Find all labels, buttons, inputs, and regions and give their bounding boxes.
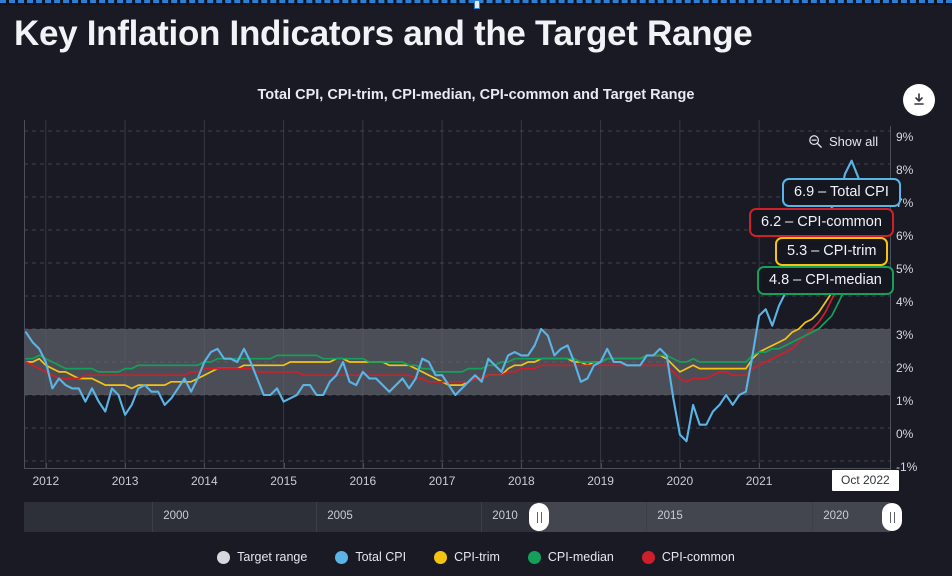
legend-color-swatch [335, 551, 348, 564]
navigator-right-handle[interactable] [882, 503, 902, 531]
series-line-total-cpi[interactable] [26, 161, 878, 442]
x-axis-line [24, 468, 890, 469]
download-button[interactable] [903, 84, 935, 116]
legend-item-cpi-trim[interactable]: CPI-trim [434, 550, 500, 564]
annotation-total-cpi[interactable]: 6.9 – Total CPI [782, 178, 901, 207]
legend-color-swatch [434, 551, 447, 564]
legend-color-swatch [642, 551, 655, 564]
x-tick-label: 2014 [191, 474, 218, 488]
x-axis: Oct 2022 2012201320142015201620172018201… [0, 468, 952, 496]
x-tick-label: 2015 [270, 474, 297, 488]
legend: Target rangeTotal CPICPI-trimCPI-medianC… [0, 542, 952, 572]
legend-color-swatch [217, 551, 230, 564]
show-all-label: Show all [829, 134, 878, 149]
y-tick-label: 1% [896, 394, 913, 408]
navigator-tick-label: 2005 [327, 510, 353, 522]
annotation-cpi-common[interactable]: 6.2 – CPI-common [749, 208, 894, 237]
x-tick-label: 2012 [32, 474, 59, 488]
chart-subtitle: Total CPI, CPI-trim, CPI-median, CPI-com… [0, 87, 952, 103]
handle-grip-icon [890, 512, 895, 523]
legend-item-target-range[interactable]: Target range [217, 550, 307, 564]
navigator-tick-label: 2015 [657, 510, 683, 522]
navigator-tick-label: 2000 [163, 510, 189, 522]
legend-label: CPI-median [548, 550, 614, 564]
selection-handle[interactable] [474, 0, 480, 9]
legend-label: CPI-common [662, 550, 735, 564]
y-tick-label: 8% [896, 163, 913, 177]
annotation-cpi-median[interactable]: 4.8 – CPI-median [757, 266, 894, 295]
navigator-tick-label: 2010 [492, 510, 518, 522]
show-all-button[interactable]: Show all [808, 134, 878, 149]
y-tick-label: 3% [896, 328, 913, 342]
navigator-left-handle[interactable] [529, 503, 549, 531]
navigator-divider [812, 502, 813, 532]
x-tick-mark [284, 463, 285, 468]
x-tick-mark [759, 463, 760, 468]
annotation-cpi-trim[interactable]: 5.3 – CPI-trim [775, 237, 888, 266]
x-tick-mark [521, 463, 522, 468]
legend-item-cpi-median[interactable]: CPI-median [528, 550, 614, 564]
legend-label: Total CPI [355, 550, 406, 564]
x-tick-label: 2016 [349, 474, 376, 488]
navigator-divider [152, 502, 153, 532]
x-tick-mark [204, 463, 205, 468]
x-tick-label: 2013 [112, 474, 139, 488]
legend-label: CPI-trim [454, 550, 500, 564]
navigator[interactable]: 20002005201020152020 [24, 502, 890, 532]
x-tick-label: 2019 [587, 474, 614, 488]
download-icon [911, 92, 927, 108]
x-tick-mark [680, 463, 681, 468]
legend-item-cpi-common[interactable]: CPI-common [642, 550, 735, 564]
legend-label: Target range [237, 550, 307, 564]
x-tick-label: 2017 [429, 474, 456, 488]
y-tick-label: 4% [896, 295, 913, 309]
zoom-out-icon [808, 134, 823, 149]
x-tick-mark [125, 463, 126, 468]
navigator-divider [316, 502, 317, 532]
navigator-divider [481, 502, 482, 532]
y-tick-label: 5% [896, 262, 913, 276]
y-tick-label: 9% [896, 130, 913, 144]
y-tick-label: 2% [896, 361, 913, 375]
x-tick-mark [46, 463, 47, 468]
y-tick-label: 0% [896, 427, 913, 441]
page-title: Key Inflation Indicators and the Target … [14, 14, 938, 54]
navigator-divider [646, 502, 647, 532]
x-tick-mark [601, 463, 602, 468]
navigator-tick-label: 2020 [823, 510, 849, 522]
y-tick-label: 6% [896, 229, 913, 243]
handle-grip-icon [537, 512, 542, 523]
x-tick-mark [442, 463, 443, 468]
chart-page: Key Inflation Indicators and the Target … [0, 0, 952, 576]
legend-item-total-cpi[interactable]: Total CPI [335, 550, 406, 564]
x-tick-label: 2020 [667, 474, 694, 488]
x-tick-label: 2021 [746, 474, 773, 488]
x-tick-label: 2018 [508, 474, 535, 488]
legend-color-swatch [528, 551, 541, 564]
x-tick-mark [363, 463, 364, 468]
y-axis: 9%8%7%6%5%4%3%2%1%0%-1% [896, 120, 948, 480]
x-cursor-label: Oct 2022 [832, 470, 899, 491]
